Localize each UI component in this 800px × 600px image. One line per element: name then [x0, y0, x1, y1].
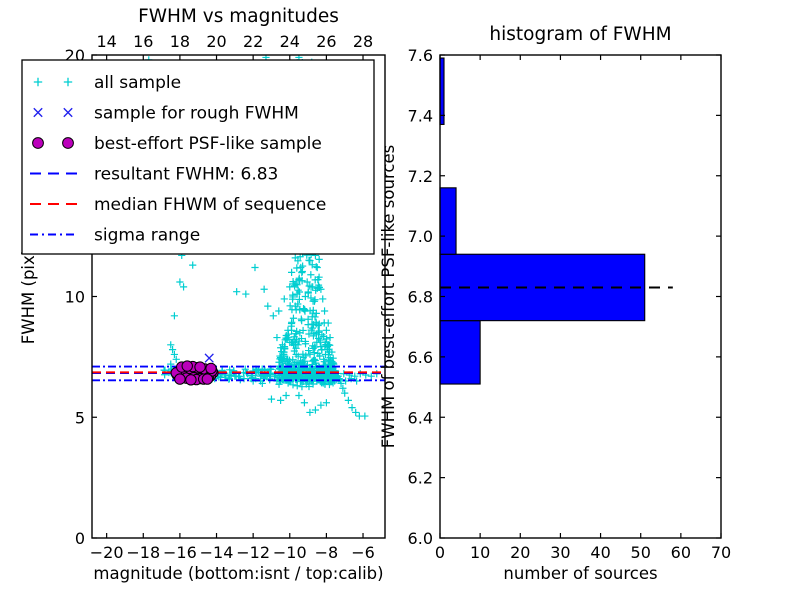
plus-icon	[316, 256, 323, 263]
plus-icon	[313, 263, 320, 270]
plus-icon	[173, 356, 180, 363]
plus-icon	[275, 307, 282, 314]
plus-icon	[167, 341, 174, 348]
left-top-tick-label: 28	[353, 32, 373, 51]
plus-icon	[277, 397, 284, 404]
plus-icon	[171, 351, 178, 358]
matplotlib-figure: −20−18−16−14−12−10−8−6141618202224262805…	[0, 0, 800, 600]
left-top-tick-label: 18	[170, 32, 190, 51]
right-y-tick-label: 7.6	[408, 46, 433, 65]
plus-icon	[288, 319, 295, 326]
left-top-tick-label: 26	[316, 32, 336, 51]
left-top-tick-label: 24	[280, 32, 300, 51]
plus-icon	[321, 307, 328, 314]
right-x-tick-label: 30	[550, 543, 570, 562]
plus-icon	[261, 286, 268, 293]
plus-icon	[290, 315, 297, 322]
plus-icon	[307, 271, 314, 278]
plus-icon	[306, 351, 313, 358]
plus-icon	[270, 312, 277, 319]
plus-icon	[189, 262, 196, 269]
plus-icon	[301, 306, 308, 313]
left-panel-title: FWHM vs magnitudes	[138, 6, 339, 27]
right-panel-ylabel: FWHM of best-effort PSF-like sources	[379, 145, 398, 448]
legend-entry-label: sample for rough FWHM	[94, 104, 299, 124]
right-panel-title: histogram of FWHM	[489, 24, 671, 45]
plus-icon	[311, 296, 318, 303]
plus-icon	[264, 303, 271, 310]
right-y-tick-label: 7.4	[408, 106, 433, 125]
filled-circle-icon	[202, 374, 212, 384]
left-bottom-tick-label: −20	[90, 543, 124, 562]
series-rough-fwhm	[205, 354, 213, 362]
plus-icon	[348, 404, 355, 411]
plus-icon	[323, 327, 330, 334]
histogram-bar	[440, 188, 456, 254]
right-x-tick-label: 10	[470, 543, 490, 562]
plus-icon	[180, 283, 187, 290]
left-top-tick-label: 16	[133, 32, 153, 51]
left-panel-ylabel: FWHM (pix)	[19, 249, 38, 344]
legend-entry-label: best-effort PSF-like sample	[94, 134, 322, 154]
plus-icon	[345, 397, 352, 404]
right-y-tick-label: 6.4	[408, 408, 433, 427]
left-y-tick-label: 0	[75, 529, 85, 548]
plus-icon	[251, 264, 258, 271]
left-bottom-tick-label: −6	[351, 543, 375, 562]
right-x-tick-label: 40	[590, 543, 610, 562]
left-top-tick-label: 20	[206, 32, 226, 51]
right-panel: 0102030405060706.06.26.46.66.87.07.27.47…	[379, 24, 731, 583]
plus-icon	[298, 316, 305, 323]
plus-icon	[268, 396, 275, 403]
plus-icon	[233, 288, 240, 295]
filled-circle-icon	[63, 138, 74, 149]
plus-icon	[339, 385, 346, 392]
plus-icon	[352, 409, 359, 416]
plus-icon	[176, 278, 183, 285]
filled-circle-icon	[206, 363, 216, 373]
figure-canvas: −20−18−16−14−12−10−8−6141618202224262805…	[0, 0, 800, 600]
filled-circle-icon	[33, 138, 44, 149]
left-bottom-tick-label: −10	[273, 543, 307, 562]
legend-entry-label: all sample	[94, 73, 181, 93]
right-panel-xlabel: number of sources	[503, 564, 657, 583]
plus-icon	[171, 312, 178, 319]
plus-icon	[341, 390, 348, 397]
right-x-tick-label: 70	[711, 543, 731, 562]
right-x-tick-label: 60	[671, 543, 691, 562]
plus-icon	[301, 399, 308, 406]
legend: all samplesample for rough FWHMbest-effo…	[22, 60, 374, 254]
series-psf-like	[171, 361, 218, 385]
right-x-tick-label: 20	[510, 543, 530, 562]
legend-entry-label: resultant FWHM: 6.83	[94, 165, 278, 185]
left-panel-xlabel: magnitude (bottom:isnt / top:calib)	[93, 564, 383, 583]
plus-icon	[169, 346, 176, 353]
left-bottom-tick-label: −12	[236, 543, 270, 562]
left-y-tick-label: 10	[65, 288, 85, 307]
histogram-bar	[440, 321, 480, 384]
left-bottom-tick-label: −8	[315, 543, 339, 562]
right-x-tick-label: 0	[435, 543, 445, 562]
left-bottom-tick-label: −16	[163, 543, 197, 562]
left-bottom-tick-label: −18	[126, 543, 160, 562]
plus-icon	[294, 382, 301, 389]
histogram-bars	[440, 58, 645, 384]
right-y-tick-label: 6.6	[408, 348, 433, 367]
plus-icon	[319, 295, 326, 302]
filled-circle-icon	[175, 374, 185, 384]
left-bottom-tick-label: −14	[200, 543, 234, 562]
right-y-tick-label: 6.2	[408, 469, 433, 488]
legend-entry-label: sigma range	[94, 226, 200, 246]
plus-icon	[287, 302, 294, 309]
plus-icon	[293, 306, 300, 313]
plus-icon	[295, 392, 302, 399]
left-y-tick-label: 5	[75, 408, 85, 427]
right-y-tick-label: 7.2	[408, 167, 433, 186]
plus-icon	[281, 295, 288, 302]
plus-icon	[361, 412, 368, 419]
left-top-tick-label: 14	[96, 32, 116, 51]
cross-icon	[205, 354, 213, 362]
right-y-tick-label: 6.8	[408, 288, 433, 307]
right-y-tick-label: 6.0	[408, 529, 433, 548]
filled-circle-icon	[195, 362, 205, 372]
plus-icon	[326, 334, 333, 341]
left-top-tick-label: 22	[243, 32, 263, 51]
plus-icon	[295, 287, 302, 294]
right-y-tick-label: 7.0	[408, 227, 433, 246]
plus-icon	[273, 334, 280, 341]
plus-icon	[318, 346, 325, 353]
plus-icon	[288, 269, 295, 276]
legend-entry-label: median FHWM of sequence	[94, 195, 326, 215]
right-x-tick-label: 50	[631, 543, 651, 562]
filled-circle-icon	[186, 375, 196, 385]
plus-icon	[242, 290, 249, 297]
filled-circle-icon	[182, 361, 192, 371]
plus-icon	[283, 392, 290, 399]
